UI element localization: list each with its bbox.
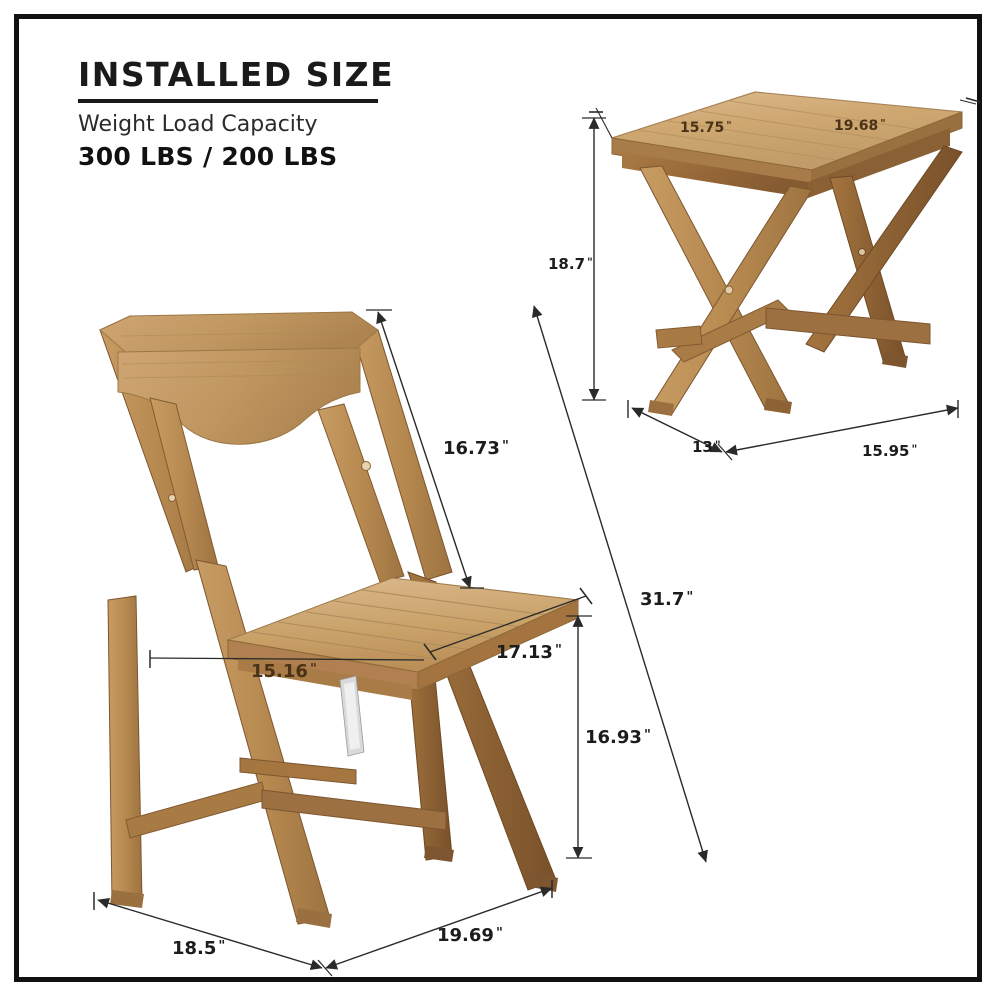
dimension-label-table-top-width: 19.68" [834, 118, 886, 134]
dimension-label-chair-base-width: 19.69" [437, 925, 503, 946]
folding-chair-illustration [100, 312, 578, 928]
dimension-label-table-height: 18.7" [548, 255, 593, 273]
subtitle: Weight Load Capacity [78, 111, 408, 139]
side-table-illustration [612, 92, 962, 416]
headline-block: INSTALLED SIZE Weight Load Capacity 300 … [78, 58, 408, 171]
dimension-label-table-base-width: 15.95" [862, 442, 917, 460]
dimension-label-chair-seat-width: 15.16" [251, 661, 317, 682]
capacity-value: 300 LBS / 200 LBS [78, 142, 408, 171]
dimension-label-table-top-depth: 15.75" [680, 120, 732, 136]
dimension-label-chair-seat-height: 16.93" [585, 727, 651, 748]
dimension-label-chair-base-depth: 18.5" [172, 938, 225, 959]
dimension-label-table-base-depth: 13" [692, 438, 721, 456]
dimension-label-chair-total-height: 31.7" [640, 589, 693, 610]
page-title: INSTALLED SIZE [78, 58, 408, 93]
dimension-label-chair-back-height: 16.73" [443, 438, 509, 459]
title-underline [78, 99, 378, 103]
dimension-label-chair-seat-depth: 17.13" [496, 642, 562, 663]
